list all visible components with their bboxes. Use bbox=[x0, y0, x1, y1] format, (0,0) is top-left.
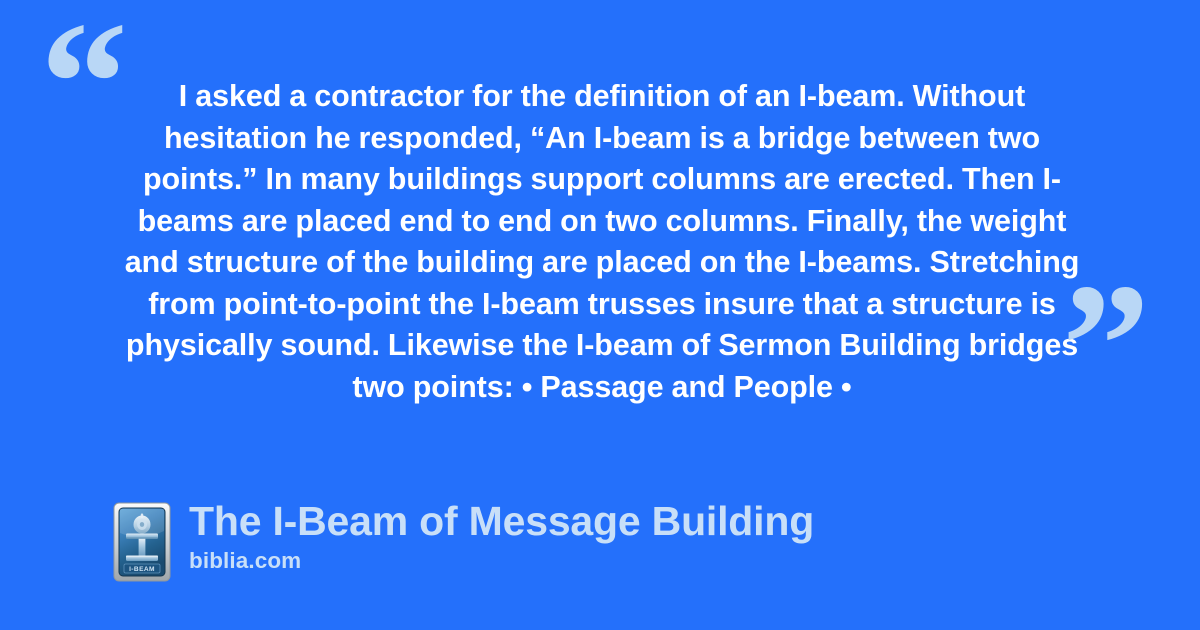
i-beam-logo-icon: I-BEAM bbox=[113, 502, 171, 582]
site-name: biblia.com bbox=[189, 547, 814, 575]
closing-quote-icon: ” bbox=[1062, 258, 1148, 434]
logo-label: I-BEAM bbox=[129, 566, 155, 573]
brand-block: I-BEAM The I-Beam of Message Building bi… bbox=[113, 498, 814, 582]
quote-card: “ I asked a contractor for the definitio… bbox=[0, 0, 1200, 630]
page-title: The I-Beam of Message Building bbox=[189, 498, 814, 544]
quote-text: I asked a contractor for the definition … bbox=[108, 76, 1096, 408]
brand-text-group: The I-Beam of Message Building biblia.co… bbox=[189, 498, 814, 575]
